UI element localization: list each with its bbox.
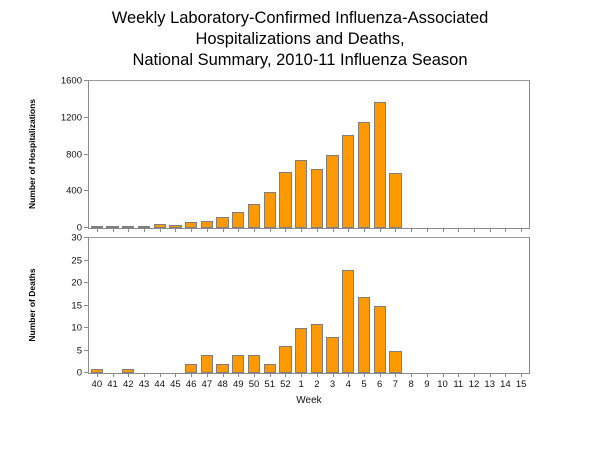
x-tick [490,228,491,232]
y-tick-label: 30 [71,233,82,244]
x-tick [254,373,255,377]
bar-week-51 [264,192,276,228]
y-tick-label: 800 [66,149,82,160]
x-tick [333,228,334,232]
bar-week-3 [326,155,338,228]
x-tick-label-week-6: 6 [377,379,382,390]
bar-week-48 [216,364,228,373]
x-tick-label-week-4: 4 [346,379,351,390]
bar-week-1 [295,328,307,373]
x-tick-label-week-42: 42 [123,379,134,390]
bar-week-52 [279,346,291,373]
x-tick [160,228,161,232]
x-tick [301,228,302,232]
y-tick-label: 25 [71,255,82,266]
y-tick [84,80,89,81]
x-tick [317,228,318,232]
x-tick [458,228,459,232]
x-tick [128,373,129,377]
x-tick [223,228,224,232]
hospitalizations-y-axis-title: Number of Hospitalizations [27,84,37,224]
x-tick-label-week-10: 10 [437,379,448,390]
bar-week-4 [342,135,354,228]
x-tick-label-week-7: 7 [393,379,398,390]
x-tick [505,373,506,377]
y-tick [84,260,89,261]
hospitalizations-bar-series [89,81,529,228]
bar-week-2 [311,324,323,374]
x-tick [521,373,522,377]
x-tick-label-week-15: 15 [516,379,527,390]
x-tick [144,228,145,232]
x-tick [443,373,444,377]
x-tick [285,373,286,377]
bar-week-5 [358,122,370,228]
x-tick [270,373,271,377]
x-tick-label-week-8: 8 [408,379,413,390]
hospitalizations-plot-area: Number of Hospitalizations 0400800120016… [88,80,530,229]
x-axis-title: Week [88,395,530,406]
y-tick [84,117,89,118]
x-tick [411,373,412,377]
y-tick-label: 15 [71,300,82,311]
x-tick-label-week-47: 47 [202,379,213,390]
x-tick-label-week-5: 5 [361,379,366,390]
x-tick-label-week-51: 51 [264,379,275,390]
x-tick [474,373,475,377]
x-tick [191,373,192,377]
bar-week-4 [342,270,354,374]
bar-week-48 [216,217,228,228]
x-tick-label-week-52: 52 [280,379,291,390]
x-tick-label-week-2: 2 [314,379,319,390]
y-tick-label: 20 [71,278,82,289]
x-tick [427,228,428,232]
y-tick [84,372,89,373]
y-tick-label: 1200 [61,112,82,123]
x-tick [317,373,318,377]
y-tick [84,305,89,306]
x-tick [285,228,286,232]
y-tick [84,154,89,155]
x-tick [474,228,475,232]
x-tick [191,228,192,232]
y-tick [84,327,89,328]
y-tick-label: 10 [71,323,82,334]
x-tick [427,373,428,377]
x-tick-label-week-46: 46 [186,379,197,390]
x-tick [348,373,349,377]
y-tick-label: 400 [66,186,82,197]
deaths-y-axis-title: Number of Deaths [27,235,37,375]
bar-week-1 [295,160,307,228]
x-tick [160,373,161,377]
chart-title-line-2: Hospitalizations and Deaths, [0,29,600,50]
x-tick [270,228,271,232]
x-tick-label-week-45: 45 [170,379,181,390]
bar-week-7 [389,173,401,228]
bar-week-49 [232,212,244,228]
x-tick [521,228,522,232]
x-tick-label-week-48: 48 [217,379,228,390]
y-tick [84,190,89,191]
x-tick [411,228,412,232]
x-tick-label-week-49: 49 [233,379,244,390]
x-tick [113,373,114,377]
bar-week-49 [232,355,244,373]
x-tick-label-week-9: 9 [424,379,429,390]
x-tick-label-week-43: 43 [139,379,150,390]
x-tick [238,373,239,377]
deaths-bar-series [89,238,529,373]
y-tick [84,350,89,351]
y-tick [84,227,89,228]
x-tick [395,373,396,377]
x-tick [144,373,145,377]
y-tick-label: 0 [77,368,82,379]
x-tick [301,373,302,377]
y-tick [84,237,89,238]
bar-week-51 [264,364,276,373]
bar-week-52 [279,172,291,228]
y-tick [84,282,89,283]
chart-title: Weekly Laboratory-Confirmed Influenza-As… [0,8,600,71]
x-tick [175,373,176,377]
x-tick-label-week-40: 40 [92,379,103,390]
bar-week-47 [201,355,213,373]
x-tick [207,373,208,377]
x-tick [443,228,444,232]
y-tick-label: 5 [77,345,82,356]
bar-week-6 [374,102,386,228]
x-tick [364,228,365,232]
bar-week-47 [201,221,213,228]
x-tick-label-week-11: 11 [453,379,463,390]
x-tick-label-week-14: 14 [500,379,511,390]
chart-title-line-3: National Summary, 2010-11 Influenza Seas… [0,50,600,71]
bar-week-5 [358,297,370,374]
x-tick [364,373,365,377]
x-tick-label-week-12: 12 [469,379,480,390]
x-tick [223,373,224,377]
x-tick [505,228,506,232]
x-tick [97,373,98,377]
x-tick [97,228,98,232]
x-tick-label-week-50: 50 [249,379,260,390]
influenza-chart-figure: Weekly Laboratory-Confirmed Influenza-As… [0,0,600,450]
bar-week-46 [185,364,197,373]
x-tick-label-week-13: 13 [484,379,495,390]
x-tick [238,228,239,232]
x-tick [458,373,459,377]
bar-week-50 [248,204,260,228]
x-tick [380,373,381,377]
x-tick [254,228,255,232]
x-tick [490,373,491,377]
x-tick [380,228,381,232]
bar-week-7 [389,351,401,374]
bar-week-3 [326,337,338,373]
x-tick [113,228,114,232]
x-tick [128,228,129,232]
x-tick [175,228,176,232]
x-tick-label-week-41: 41 [107,379,118,390]
bar-week-50 [248,355,260,373]
bar-week-2 [311,169,323,228]
bar-week-6 [374,306,386,374]
x-tick-label-week-1: 1 [298,379,303,390]
deaths-plot-area: Number of Deaths 051015202530 4041424344… [88,237,530,374]
x-tick [333,373,334,377]
y-tick-label: 1600 [61,76,82,87]
x-tick-label-week-3: 3 [330,379,335,390]
x-tick-label-week-44: 44 [154,379,165,390]
x-tick [348,228,349,232]
chart-title-line-1: Weekly Laboratory-Confirmed Influenza-As… [0,8,600,29]
x-tick [395,228,396,232]
x-tick [207,228,208,232]
